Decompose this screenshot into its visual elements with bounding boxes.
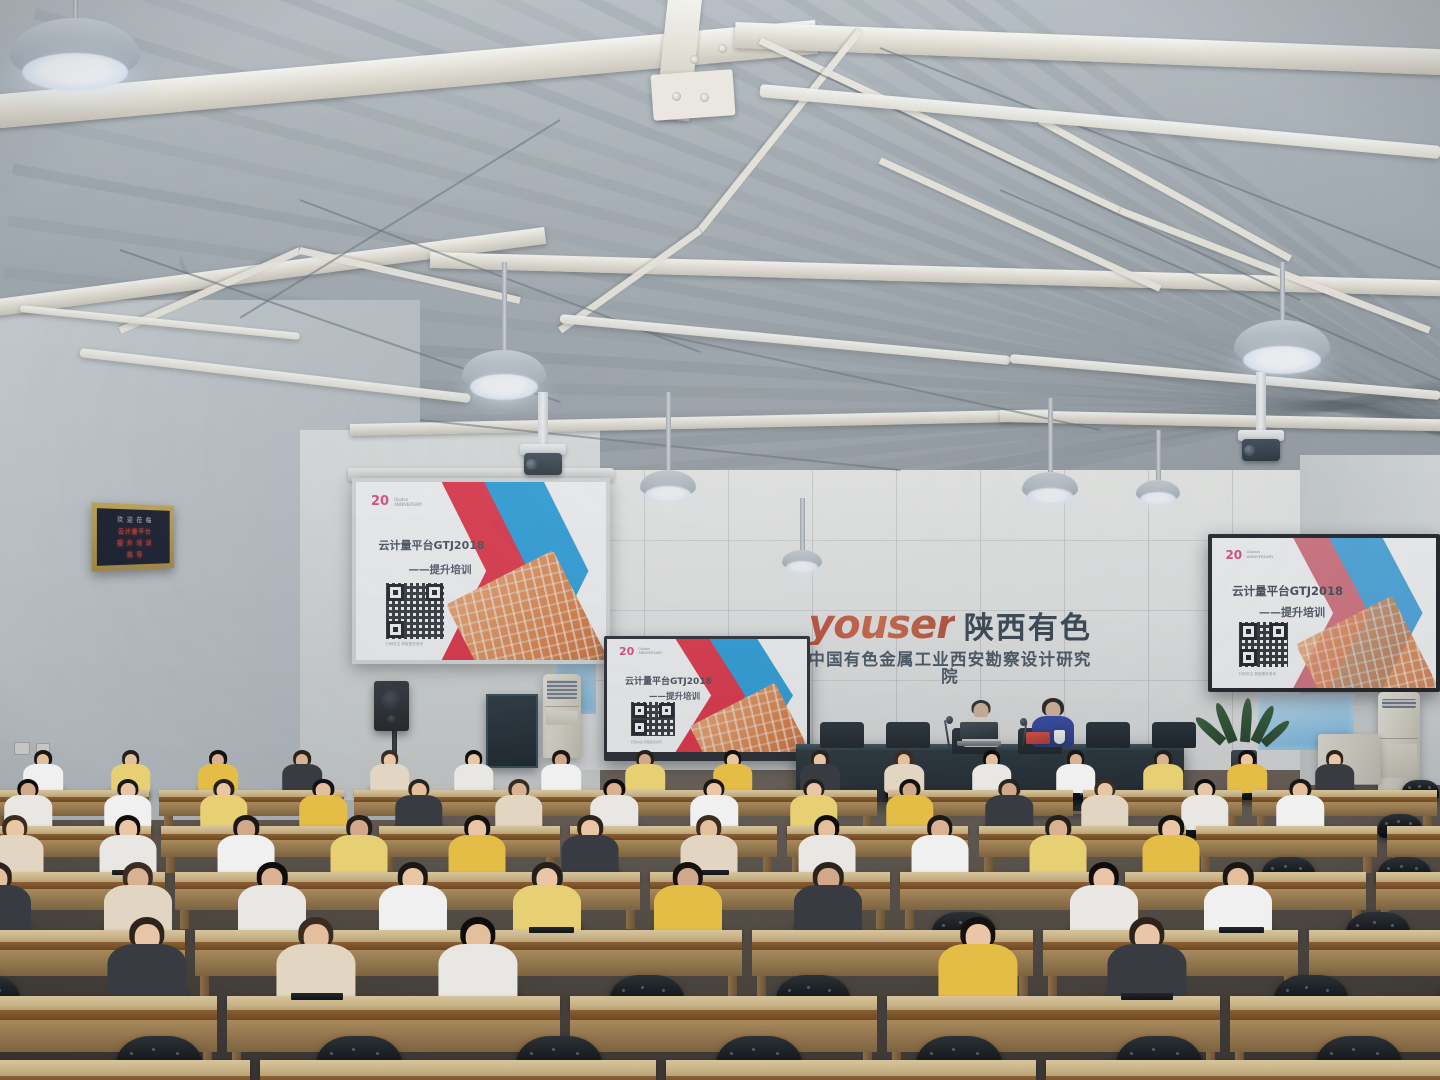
slide-logo: 20 Glodon ANNIVERSARY bbox=[1225, 546, 1315, 564]
audience-member bbox=[0, 862, 37, 936]
student-desk[interactable] bbox=[666, 1060, 1036, 1080]
chair-rivet bbox=[1299, 867, 1302, 870]
desk-top bbox=[1196, 826, 1377, 834]
audience-member bbox=[391, 779, 446, 831]
chair-rivet bbox=[930, 1052, 933, 1055]
lamp-rod bbox=[666, 392, 671, 470]
student-desk[interactable] bbox=[1376, 872, 1440, 910]
desk-leg bbox=[876, 910, 885, 929]
audience-member bbox=[932, 917, 1024, 1003]
desk-edge bbox=[260, 1076, 656, 1080]
lamp-bulb bbox=[1140, 492, 1176, 506]
chair-rivet bbox=[752, 1048, 755, 1051]
pendant-lamp bbox=[1136, 430, 1180, 532]
desk-leg bbox=[200, 976, 209, 998]
projector-pole bbox=[1256, 372, 1266, 430]
paper-cup bbox=[1054, 730, 1065, 744]
person-torso bbox=[1143, 835, 1200, 877]
bolt bbox=[700, 93, 709, 102]
logo-label: Glodon ANNIVERSARY bbox=[638, 647, 662, 656]
student-desk[interactable] bbox=[0, 1060, 250, 1080]
led-line-2: 云计量平台 bbox=[118, 526, 151, 536]
desk-front bbox=[1196, 840, 1377, 857]
person-torso bbox=[438, 944, 517, 1003]
desk-top bbox=[570, 996, 877, 1010]
audience-member bbox=[907, 815, 973, 877]
audience-member bbox=[1138, 815, 1204, 877]
desk-leg bbox=[1048, 976, 1057, 998]
person-torso bbox=[1277, 795, 1324, 830]
chair-rivet bbox=[641, 986, 644, 989]
audience-member bbox=[101, 917, 193, 1003]
chair-rivet bbox=[376, 1052, 379, 1055]
chair-rivet bbox=[130, 1052, 133, 1055]
desk-top bbox=[1309, 930, 1440, 942]
presenter-chair[interactable] bbox=[886, 722, 930, 748]
projector-pole bbox=[538, 392, 548, 444]
led-line-4: 指 导 bbox=[127, 550, 143, 560]
anniversary-mark: 20 bbox=[1225, 548, 1242, 562]
slide-subtitle: ——提升培训 bbox=[1259, 604, 1325, 620]
chair-rivet bbox=[1400, 865, 1403, 868]
student-desk[interactable] bbox=[1196, 826, 1377, 857]
chair-rivet bbox=[330, 1052, 333, 1055]
chair-rivet bbox=[352, 1048, 355, 1051]
desk-edge bbox=[887, 1010, 1220, 1020]
chair-rivet bbox=[1385, 822, 1388, 825]
lamp-bulb bbox=[1027, 488, 1073, 505]
student-desk[interactable] bbox=[1387, 826, 1440, 857]
chair-rivet bbox=[1376, 1052, 1379, 1055]
led-line-3: 提 升 培 训 bbox=[117, 538, 152, 548]
microphone-left bbox=[944, 716, 954, 746]
lamp-rod bbox=[502, 262, 507, 350]
logo-label: Glodon ANNIVERSARY bbox=[1247, 550, 1274, 559]
desk-edge bbox=[1309, 942, 1440, 950]
desk-top bbox=[1387, 826, 1440, 834]
desk-edge bbox=[666, 1076, 1036, 1080]
chair-rivet bbox=[1428, 786, 1431, 789]
chair-rivet bbox=[1284, 865, 1287, 868]
lcd-tv-center: 20 Glodon ANNIVERSARY 云计量平台GTJ2018 ——提升培… bbox=[604, 636, 810, 761]
logo-label: Glodon ANNIVERSARY bbox=[394, 497, 422, 507]
logo-label-line2: ANNIVERSARY bbox=[638, 651, 662, 655]
chair-rivet bbox=[1418, 785, 1421, 788]
chair-rivet bbox=[730, 1052, 733, 1055]
desk-edge bbox=[1230, 1010, 1440, 1020]
lamp-bulb bbox=[22, 53, 129, 91]
student-desk[interactable] bbox=[1046, 1060, 1440, 1080]
person-torso bbox=[911, 835, 968, 877]
audience-member bbox=[451, 750, 497, 793]
desk-top bbox=[1376, 872, 1440, 882]
slide-on-tv-center: 20 Glodon ANNIVERSARY 云计量平台GTJ2018 ——提升培… bbox=[607, 639, 807, 752]
chair-rivet bbox=[828, 989, 831, 992]
pendant-lamp bbox=[640, 392, 696, 528]
wall-seam bbox=[560, 540, 1320, 541]
slide-subtitle: ——提升培训 bbox=[649, 690, 700, 702]
chair-rivet bbox=[1387, 867, 1390, 870]
person-torso bbox=[654, 885, 722, 936]
slide-subtitle: ——提升培训 bbox=[409, 562, 472, 577]
person-torso bbox=[107, 944, 186, 1003]
qr-code bbox=[1239, 622, 1288, 667]
slide-logo: 20 Glodon ANNIVERSARY bbox=[371, 491, 471, 512]
logo-label-line2: ANNIVERSARY bbox=[394, 502, 422, 507]
chair-rivet bbox=[576, 1052, 579, 1055]
chair-rivet bbox=[1352, 1048, 1355, 1051]
notebook-on-desk bbox=[1219, 927, 1264, 933]
chair-rivet bbox=[807, 986, 810, 989]
desk-top bbox=[260, 1060, 656, 1076]
pendant-lamp bbox=[10, 0, 140, 110]
pendant-lamp bbox=[1022, 398, 1078, 530]
led-notice-board: 欢 迎 莅 临 云计量平台 提 升 培 训 指 导 bbox=[92, 502, 174, 571]
desk-front bbox=[1387, 840, 1440, 857]
presenter-chair[interactable] bbox=[1152, 722, 1196, 748]
audience-member bbox=[1199, 862, 1278, 936]
institute-name: 中国有色金属工业西安勘察设计研究院 bbox=[800, 652, 1100, 685]
notebook-on-desk bbox=[291, 993, 343, 1000]
desk-front bbox=[487, 950, 742, 976]
desk-top bbox=[0, 996, 217, 1010]
desk-top bbox=[1046, 1060, 1440, 1076]
chair-rivet bbox=[0, 989, 1, 992]
slide-caption: 扫码关注 获取更多资讯 bbox=[386, 642, 423, 647]
desk-leg bbox=[1363, 857, 1372, 873]
chair-rivet bbox=[1409, 822, 1412, 825]
lamp-rod bbox=[73, 0, 78, 18]
audience-member bbox=[1273, 779, 1328, 831]
slide-on-projection-screen: 20 Glodon ANNIVERSARY 云计量平台GTJ2018 ——提升培… bbox=[356, 482, 606, 660]
lamp-rod bbox=[1280, 262, 1285, 320]
bolt bbox=[672, 92, 681, 101]
person-torso bbox=[1227, 764, 1267, 793]
notebook-on-desk bbox=[529, 927, 574, 933]
projector-lens bbox=[526, 459, 537, 470]
bolt bbox=[690, 55, 699, 64]
desk-edge bbox=[0, 1076, 250, 1080]
chair-rivet bbox=[622, 989, 625, 992]
chair-rivet bbox=[1356, 924, 1359, 927]
desk-leg bbox=[728, 976, 737, 998]
desk-leg bbox=[757, 976, 766, 998]
brand-name-chinese: 陕西有色 bbox=[964, 614, 1092, 644]
qr-code bbox=[631, 702, 675, 736]
presenter-laptop[interactable] bbox=[960, 722, 998, 746]
brand-name-latin: youser bbox=[808, 605, 955, 645]
wall-signage: youser 陕西有色 中国有色金属工业西安勘察设计研究院 bbox=[800, 605, 1100, 685]
lamp-rod bbox=[1048, 398, 1053, 472]
chair-rivet bbox=[152, 1048, 155, 1051]
chair-rivet bbox=[1391, 924, 1394, 927]
lamp-rod bbox=[800, 498, 805, 550]
chair-rivet bbox=[1130, 1052, 1133, 1055]
person-torso bbox=[938, 944, 1017, 1003]
chair-rivet bbox=[552, 1048, 555, 1051]
audience-member bbox=[432, 917, 524, 1003]
logo-label-line2: ANNIVERSARY bbox=[1247, 554, 1274, 559]
notebook-on-desk bbox=[1121, 993, 1173, 1000]
lamp-bulb bbox=[645, 486, 691, 503]
chair-rivet bbox=[1408, 786, 1411, 789]
person-torso bbox=[454, 764, 494, 793]
desk-edge bbox=[0, 1010, 217, 1020]
anniversary-mark: 20 bbox=[619, 645, 634, 658]
chair-rivet bbox=[1397, 820, 1400, 823]
audience-member bbox=[1101, 917, 1193, 1003]
chair-rivet bbox=[776, 1052, 779, 1055]
chair-rivet bbox=[530, 1052, 533, 1055]
lcd-tv-right: 20 Glodon ANNIVERSARY 云计量平台GTJ2018 ——提升培… bbox=[1208, 534, 1440, 692]
chair-rivet bbox=[1152, 1048, 1155, 1051]
person-torso bbox=[794, 885, 862, 936]
person-torso bbox=[541, 764, 581, 793]
desk-front bbox=[1309, 950, 1440, 976]
audience-member bbox=[648, 862, 727, 936]
chair-rivet bbox=[976, 1052, 979, 1055]
slide-logo: 20 Glodon ANNIVERSARY bbox=[619, 645, 699, 659]
slide-title: 云计量平台GTJ2018 bbox=[1232, 583, 1343, 599]
student-desk[interactable] bbox=[260, 1060, 656, 1080]
chair-rivet bbox=[662, 989, 665, 992]
presenter-chair[interactable] bbox=[820, 722, 864, 748]
red-item-on-table bbox=[1026, 732, 1050, 744]
slide-on-tv-right: 20 Glodon ANNIVERSARY 云计量平台GTJ2018 ——提升培… bbox=[1212, 538, 1436, 688]
desk-leg bbox=[984, 857, 993, 873]
chair-rivet bbox=[1373, 921, 1376, 924]
projector-lens bbox=[1244, 445, 1255, 456]
slide-title: 云计量平台GTJ2018 bbox=[379, 537, 485, 553]
audience-member bbox=[270, 917, 362, 1003]
desk-top bbox=[0, 1060, 250, 1076]
lamp-rod bbox=[1156, 430, 1161, 480]
desk-top bbox=[487, 930, 742, 942]
presenter-chair[interactable] bbox=[1086, 722, 1130, 748]
student-desk[interactable] bbox=[1309, 930, 1440, 976]
chair-rivet bbox=[1330, 1052, 1333, 1055]
desk-top bbox=[227, 996, 560, 1010]
person-torso bbox=[395, 795, 442, 830]
desk-leg bbox=[905, 910, 914, 929]
bolt bbox=[718, 44, 727, 53]
audience-member bbox=[789, 862, 868, 936]
desk-edge bbox=[227, 1010, 560, 1020]
lamp-bulb bbox=[786, 561, 819, 573]
chair-rivet bbox=[1415, 867, 1418, 870]
desk-leg bbox=[763, 857, 772, 873]
pa-speaker bbox=[374, 681, 409, 731]
projection-screen-left: 20 Glodon ANNIVERSARY 云计量平台GTJ2018 ——提升培… bbox=[352, 478, 610, 664]
chair-rivet bbox=[1286, 989, 1289, 992]
screen-border: 20 Glodon ANNIVERSARY 云计量平台GTJ2018 ——提升培… bbox=[352, 478, 610, 664]
desk-top bbox=[1230, 996, 1440, 1010]
ac-unit-left bbox=[543, 674, 581, 758]
student-desk[interactable] bbox=[487, 930, 742, 976]
anniversary-mark: 20 bbox=[371, 494, 389, 509]
ceiling-projector bbox=[1238, 372, 1284, 464]
pendant-lamp bbox=[782, 498, 822, 600]
slide-caption: 扫码关注 获取更多资讯 bbox=[1239, 672, 1276, 677]
desk-top bbox=[666, 1060, 1036, 1076]
led-line-1: 欢 迎 莅 临 bbox=[117, 514, 152, 524]
chair-rivet bbox=[952, 1048, 955, 1051]
desk-edge bbox=[1376, 882, 1440, 889]
chair-rivet bbox=[1176, 1052, 1179, 1055]
chair-rivet bbox=[176, 1052, 179, 1055]
person-torso bbox=[449, 835, 506, 877]
qr-code bbox=[386, 583, 444, 638]
chair-rivet bbox=[1305, 986, 1308, 989]
desk-edge bbox=[570, 1010, 877, 1020]
person-torso bbox=[0, 885, 31, 936]
audience-member bbox=[444, 815, 510, 877]
desk-leg bbox=[626, 910, 635, 929]
classroom-photo: youser 陕西有色 中国有色金属工业西安勘察设计研究院 欢 迎 莅 临 云计… bbox=[0, 0, 1440, 1080]
desk-edge bbox=[487, 942, 742, 950]
chair-rivet bbox=[1326, 989, 1329, 992]
chair-rivet bbox=[788, 989, 791, 992]
ceiling-projector bbox=[520, 392, 566, 478]
desk-edge bbox=[1046, 1076, 1440, 1080]
desk-front bbox=[1376, 889, 1440, 910]
slide-title: 云计量平台GTJ2018 bbox=[625, 674, 712, 687]
slide-caption: 扫码关注 获取更多资讯 bbox=[631, 740, 662, 744]
gusset-plate bbox=[650, 69, 735, 121]
